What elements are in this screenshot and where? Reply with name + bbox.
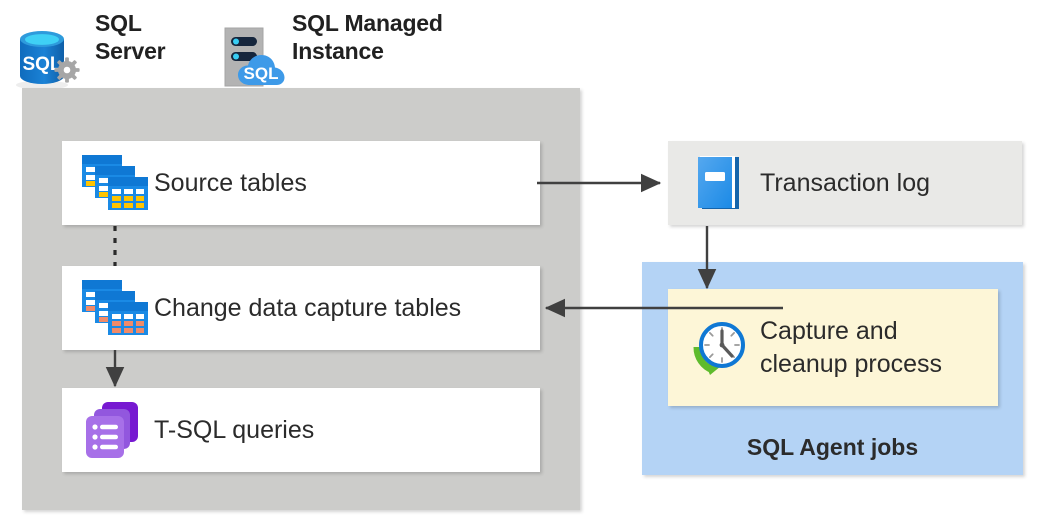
clock-refresh-icon (682, 319, 760, 377)
transaction-log-label: Transaction log (760, 168, 930, 198)
sql-server-title: SQL Server (95, 9, 165, 65)
tables-icon (76, 154, 154, 212)
change-data-capture-tables-box[interactable]: Change data capture tables (62, 266, 540, 350)
source-tables-box[interactable]: Source tables (62, 141, 540, 225)
capture-cleanup-process-box[interactable]: Capture and cleanup process (668, 289, 998, 406)
cdc-tables-icon (76, 279, 154, 337)
sql-agent-jobs-label: SQL Agent jobs (642, 434, 1023, 461)
sql-managed-instance-title: SQL Managed Instance (292, 9, 443, 65)
svg-text:SQL: SQL (244, 64, 279, 83)
transaction-log-book-icon (682, 154, 760, 212)
diagram-canvas: SQL SQL Server (0, 0, 1044, 527)
transaction-log-box[interactable]: Transaction log (668, 141, 1022, 225)
tsql-queries-label: T-SQL queries (154, 415, 314, 445)
capture-cleanup-process-label: Capture and cleanup process (760, 315, 942, 381)
change-data-capture-tables-label: Change data capture tables (154, 293, 461, 323)
tsql-queries-icon (76, 400, 154, 460)
tsql-queries-box[interactable]: T-SQL queries (62, 388, 540, 472)
source-tables-label: Source tables (154, 168, 307, 198)
